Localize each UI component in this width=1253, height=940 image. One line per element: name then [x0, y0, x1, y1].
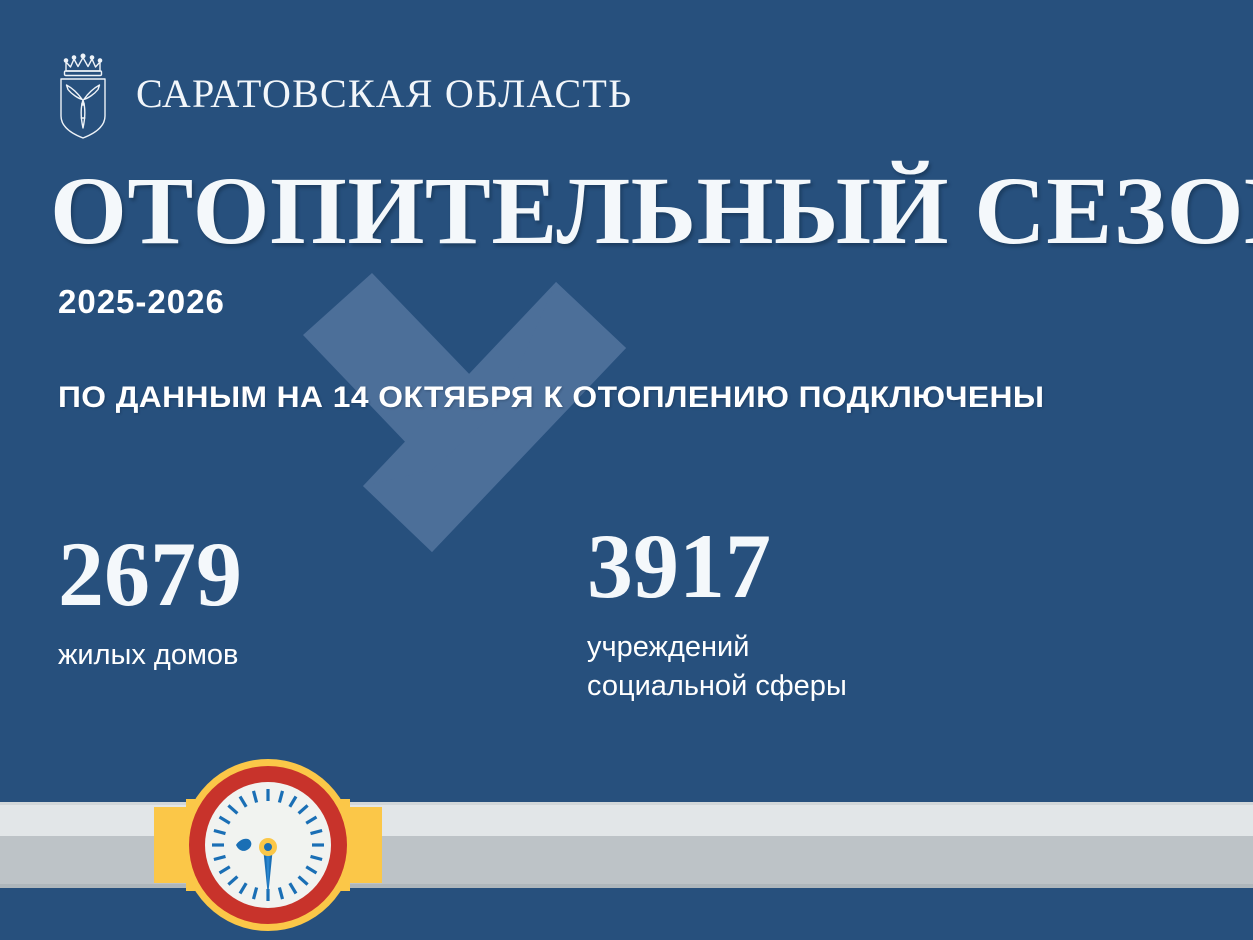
as-of-date-line: ПО ДАННЫМ НА 14 ОКТЯБРЯ К ОТОПЛЕНИЮ ПОДК…: [58, 383, 1044, 413]
stat-block-houses: 2679 жилых домов: [58, 528, 242, 675]
saratov-coat-of-arms-icon: [52, 48, 114, 140]
pressure-gauge-illustration: [148, 757, 388, 933]
region-name: САРАТОВСКАЯ ОБЛАСТЬ: [136, 74, 632, 114]
stat-value-houses: 2679: [58, 528, 242, 620]
season-years: 2025-2026: [58, 285, 225, 318]
page-title: ОТОПИТЕЛЬНЫЙ СЕЗОН: [50, 163, 1253, 259]
infographic-poster: САРАТОВСКАЯ ОБЛАСТЬ ОТОПИТЕЛЬНЫЙ СЕЗОН 2…: [0, 0, 1253, 940]
stat-label-houses: жилых домов: [58, 636, 242, 675]
stat-label-social: учреждений социальной сферы: [587, 628, 847, 705]
stat-block-social: 3917 учреждений социальной сферы: [587, 520, 847, 705]
header: САРАТОВСКАЯ ОБЛАСТЬ: [52, 48, 632, 140]
stat-value-social: 3917: [587, 520, 847, 612]
gauge-dial: [182, 759, 354, 931]
